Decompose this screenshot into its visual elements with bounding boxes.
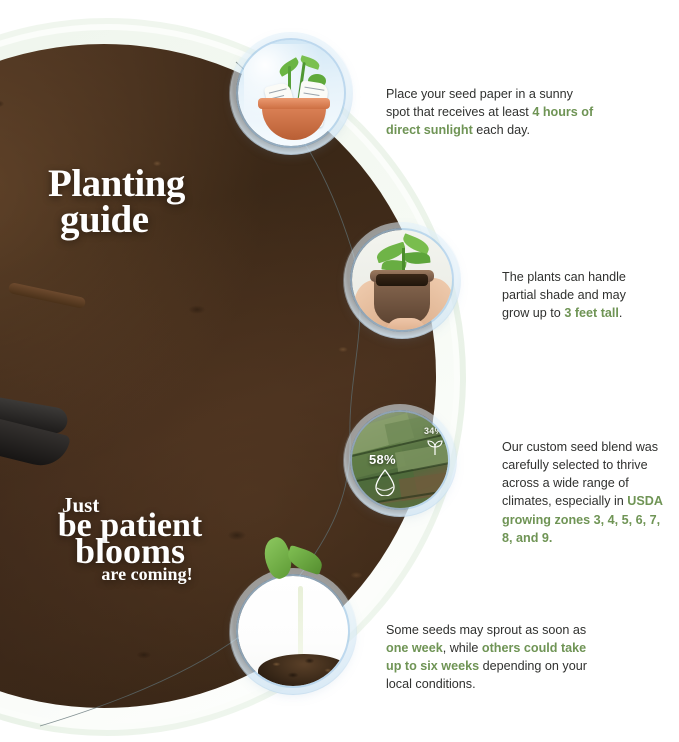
step-text-sunlight: Place your seed paper in a sunny spot th… — [386, 85, 594, 140]
step-text-shade-height: The plants can handle partial shade and … — [502, 268, 654, 323]
step-text-climate-zones: Our custom seed blend was carefully sele… — [502, 438, 668, 548]
seedling-leaves-overflow — [229, 528, 357, 588]
bubble-rim — [236, 38, 346, 148]
seedling-leaf — [285, 545, 325, 575]
trowel-handle-shape — [8, 282, 87, 309]
step-image-climate-zones: 58% 34% — [343, 403, 457, 517]
step-image-sunlight — [229, 31, 353, 155]
bubble-rim — [350, 228, 454, 332]
bubble-rim — [350, 410, 450, 510]
page-title-line-2: guide — [48, 202, 185, 238]
page-title: Planting guide — [48, 166, 185, 238]
page-title-line-1: Planting — [48, 166, 185, 202]
infographic-canvas: Planting guide Just be patient blooms ar… — [0, 0, 679, 742]
step-text-germination-time: Some seeds may sprout as soon as one wee… — [386, 621, 598, 694]
background-soil-photo — [0, 44, 436, 708]
highlighted-text: one week — [386, 641, 443, 655]
step-image-shade-height — [343, 221, 461, 339]
bubble-rim — [236, 574, 350, 688]
highlighted-text: 3 feet tall — [564, 306, 619, 320]
tagline: Just be patient blooms are coming! — [40, 496, 220, 582]
tagline-line-4: are coming! — [40, 566, 220, 582]
